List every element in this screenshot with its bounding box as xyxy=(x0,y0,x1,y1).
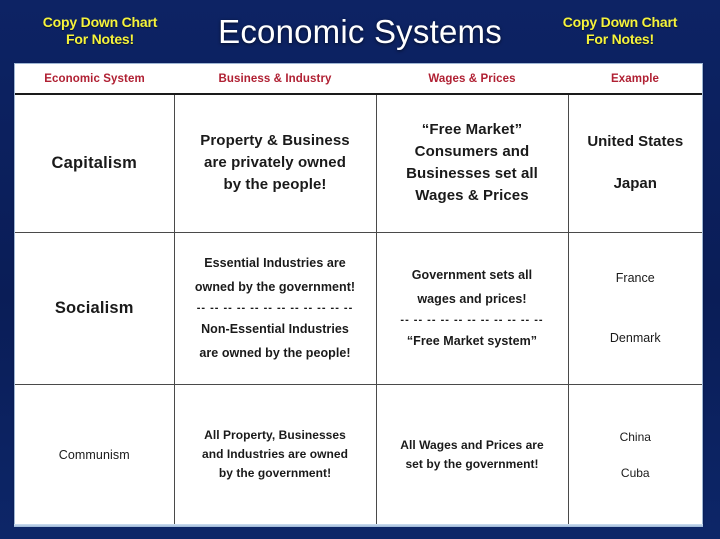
table-row: Communism All Property, Businesses and I… xyxy=(15,384,702,525)
business-line: are owned by the people! xyxy=(181,341,370,365)
business-text-socialism: Essential Industries are owned by the go… xyxy=(181,251,370,365)
dashed-separator: -- -- -- -- -- -- -- -- -- -- -- xyxy=(383,311,562,329)
example-item: Cuba xyxy=(575,455,697,491)
system-name-socialism: Socialism xyxy=(55,299,134,317)
economic-systems-table: Economic System Business & Industry Wage… xyxy=(15,64,702,525)
wages-line: Wages & Prices xyxy=(383,185,562,207)
cell-business-communism: All Property, Businesses and Industries … xyxy=(174,384,376,525)
wages-line: All Wages and Prices are xyxy=(383,436,562,455)
slide-header: Copy Down Chart For Notes! Economic Syst… xyxy=(0,0,720,62)
cell-business-socialism: Essential Industries are owned by the go… xyxy=(174,232,376,384)
table-row: Socialism Essential Industries are owned… xyxy=(15,232,702,384)
cell-system-capitalism: Capitalism xyxy=(15,94,174,232)
cell-system-socialism: Socialism xyxy=(15,232,174,384)
cell-example-capitalism: United States Japan xyxy=(568,94,702,232)
note-left: Copy Down Chart For Notes! xyxy=(16,14,184,48)
wages-line: Consumers and xyxy=(383,141,562,163)
example-item: China xyxy=(575,419,697,455)
wages-line: Government sets all xyxy=(383,263,562,287)
slide-canvas: Copy Down Chart For Notes! Economic Syst… xyxy=(0,0,720,539)
cell-system-communism: Communism xyxy=(15,384,174,525)
system-name-communism: Communism xyxy=(59,448,130,462)
column-header-business-industry: Business & Industry xyxy=(174,64,376,94)
example-item: France xyxy=(575,248,697,308)
note-left-line2: For Notes! xyxy=(16,31,184,48)
note-right-line2: For Notes! xyxy=(536,31,704,48)
cell-wages-socialism: Government sets all wages and prices! --… xyxy=(376,232,568,384)
system-name-capitalism: Capitalism xyxy=(52,154,137,172)
example-item: Denmark xyxy=(575,308,697,368)
business-line: owned by the government! xyxy=(181,275,370,299)
cell-business-capitalism: Property & Business are privately owned … xyxy=(174,94,376,232)
wages-line: wages and prices! xyxy=(383,287,562,311)
business-line: and Industries are owned xyxy=(181,445,370,464)
wages-text-socialism: Government sets all wages and prices! --… xyxy=(383,263,562,353)
column-header-economic-system: Economic System xyxy=(15,64,174,94)
business-line: Essential Industries are xyxy=(181,251,370,275)
example-item: Japan xyxy=(575,163,697,205)
bottom-highlight-strip xyxy=(14,524,703,527)
example-list-capitalism: United States Japan xyxy=(575,121,697,205)
note-right: Copy Down Chart For Notes! xyxy=(536,14,704,48)
wages-line: set by the government! xyxy=(383,455,562,474)
note-left-line1: Copy Down Chart xyxy=(43,14,157,30)
cell-wages-communism: All Wages and Prices are set by the gove… xyxy=(376,384,568,525)
cell-example-socialism: France Denmark xyxy=(568,232,702,384)
business-line: by the people! xyxy=(181,174,370,196)
column-header-wages-prices: Wages & Prices xyxy=(376,64,568,94)
table-header-row: Economic System Business & Industry Wage… xyxy=(15,64,702,94)
business-line: Property & Business xyxy=(181,130,370,152)
table-row: Capitalism Property & Business are priva… xyxy=(15,94,702,232)
wages-text-capitalism: “Free Market” Consumers and Businesses s… xyxy=(383,119,562,207)
chart-frame: Economic System Business & Industry Wage… xyxy=(14,63,703,524)
wages-line: “Free Market” xyxy=(383,119,562,141)
business-text-capitalism: Property & Business are privately owned … xyxy=(181,130,370,196)
example-item: United States xyxy=(575,121,697,163)
business-line: by the government! xyxy=(181,464,370,483)
page-title: Economic Systems xyxy=(184,13,536,51)
dashed-separator: -- -- -- -- -- -- -- -- -- -- -- -- xyxy=(181,299,370,317)
wages-text-communism: All Wages and Prices are set by the gove… xyxy=(383,436,562,474)
business-text-communism: All Property, Businesses and Industries … xyxy=(181,426,370,483)
note-right-line1: Copy Down Chart xyxy=(563,14,677,30)
cell-wages-capitalism: “Free Market” Consumers and Businesses s… xyxy=(376,94,568,232)
cell-example-communism: China Cuba xyxy=(568,384,702,525)
example-list-socialism: France Denmark xyxy=(575,248,697,368)
wages-line: Businesses set all xyxy=(383,163,562,185)
business-line: Non-Essential Industries xyxy=(181,317,370,341)
example-list-communism: China Cuba xyxy=(575,419,697,491)
wages-line: “Free Market system” xyxy=(383,329,562,353)
column-header-example: Example xyxy=(568,64,702,94)
business-line: All Property, Businesses xyxy=(181,426,370,445)
business-line: are privately owned xyxy=(181,152,370,174)
